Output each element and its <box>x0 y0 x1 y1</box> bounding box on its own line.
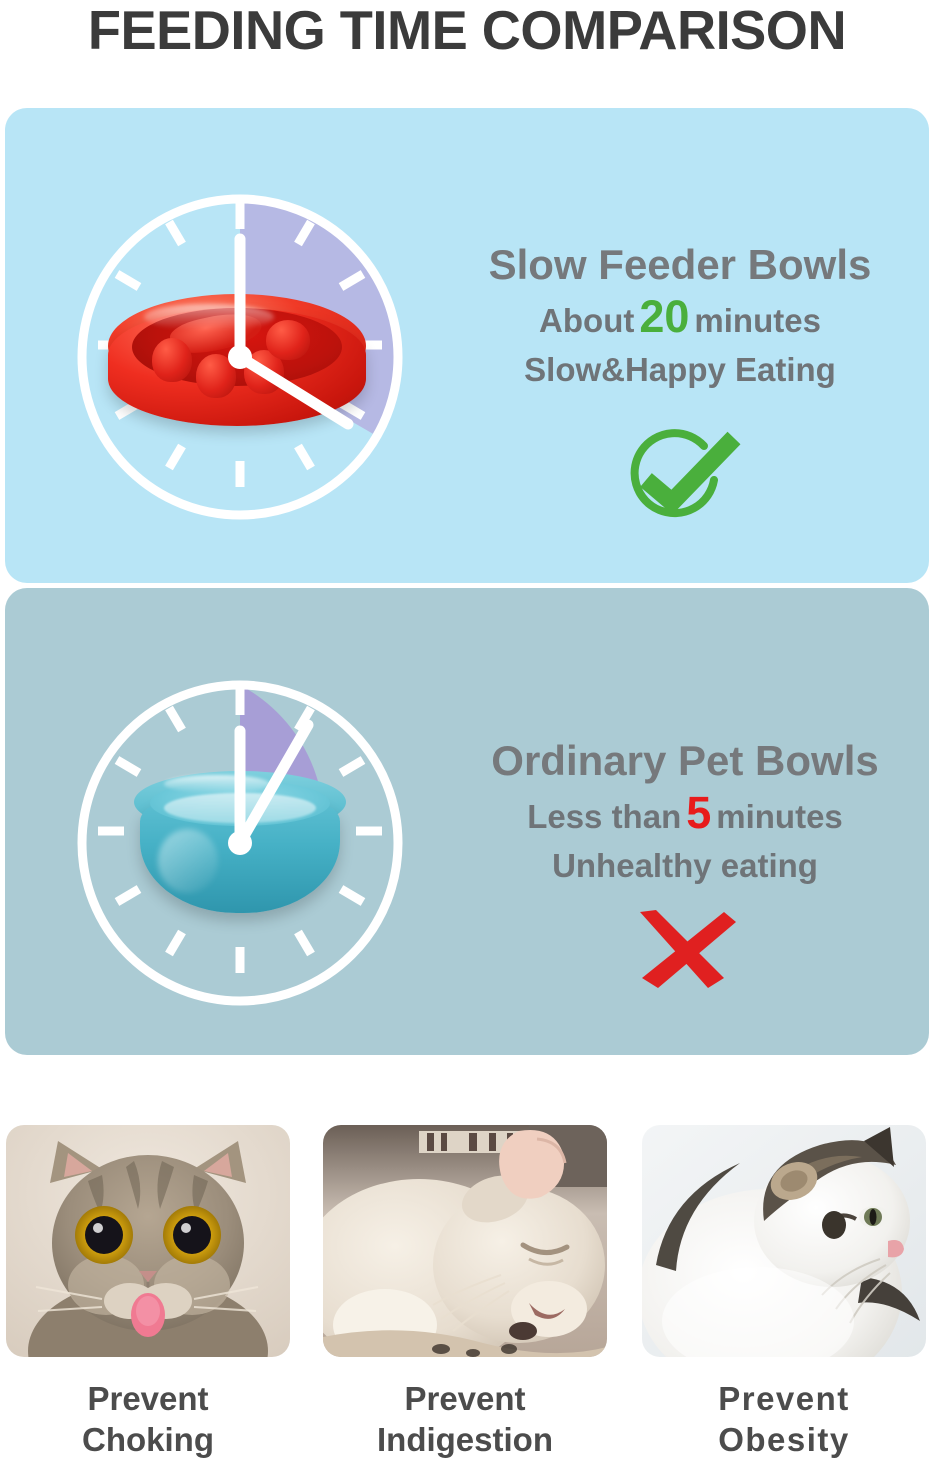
benefit-photo-choking <box>6 1125 290 1357</box>
clock-hands-ordinary <box>60 663 420 1023</box>
ordinary-bowl-text-block: Ordinary Pet Bowls Less than5minutes Unh… <box>440 734 930 890</box>
ordinary-bowl-tagline: Unhealthy eating <box>440 842 930 890</box>
clock-center-cap <box>228 831 252 855</box>
clock-hands-slow <box>60 177 420 537</box>
ordinary-bowl-minutes-number: 5 <box>681 787 716 838</box>
benefit-caption-obesity: Prevent Obesity <box>642 1378 926 1460</box>
caption-line-1: Prevent <box>642 1378 926 1419</box>
page-title: FEEDING TIME COMPARISON <box>7 2 927 58</box>
caption-line-1: Prevent <box>6 1378 290 1419</box>
caption-line-2: Choking <box>6 1419 290 1460</box>
caption-line-2: Obesity <box>642 1419 926 1460</box>
ordinary-bowl-headline: Ordinary Pet Bowls <box>440 734 930 788</box>
cross-icon <box>626 908 738 990</box>
slow-feeder-text-block: Slow Feeder Bowls About20minutes Slow&Ha… <box>430 238 930 394</box>
ordinary-bowl-sub-prefix: Less than <box>527 798 681 835</box>
slow-feeder-subline: About20minutes <box>430 292 930 346</box>
benefit-caption-indigestion: Prevent Indigestion <box>323 1378 607 1460</box>
check-circle-icon <box>608 424 753 529</box>
ordinary-bowl-sub-suffix: minutes <box>716 798 843 835</box>
benefit-photo-indigestion <box>323 1125 607 1357</box>
benefit-caption-choking: Prevent Choking <box>6 1378 290 1460</box>
slow-feeder-sub-suffix: minutes <box>694 302 821 339</box>
slow-feeder-headline: Slow Feeder Bowls <box>430 238 930 292</box>
minute-hand <box>240 357 348 424</box>
slow-feeder-tagline: Slow&Happy Eating <box>430 346 930 394</box>
caption-line-1: Prevent <box>323 1378 607 1419</box>
caption-line-2: Indigestion <box>323 1419 607 1460</box>
minute-hand <box>240 725 308 843</box>
slow-feeder-sub-prefix: About <box>539 302 634 339</box>
clock-ordinary-bowl <box>60 663 420 1023</box>
ordinary-bowl-subline: Less than5minutes <box>440 788 930 842</box>
benefit-photo-obesity <box>642 1125 926 1357</box>
clock-slow-feeder <box>60 177 420 537</box>
slow-feeder-minutes-number: 20 <box>634 291 694 342</box>
clock-center-cap <box>228 345 252 369</box>
